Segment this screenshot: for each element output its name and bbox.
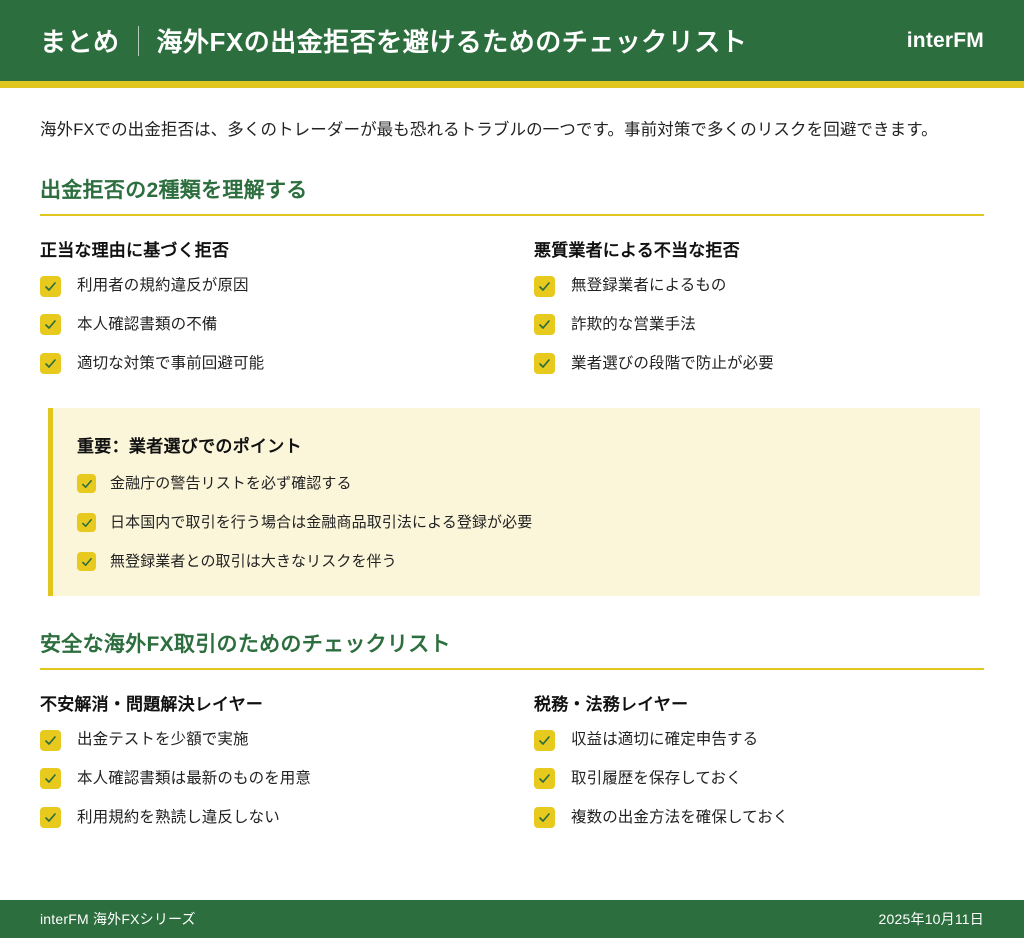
check-list: 無登録業者によるもの 詐欺的な営業手法 業者選びの段 <box>534 275 984 374</box>
column-title: 悪質業者による不当な拒否 <box>534 236 984 261</box>
column-problem-resolution-layer: 不安解消・問題解決レイヤー 出金テストを少額で実施 本人 <box>40 690 490 828</box>
check-label: 利用者の規約違反が原因 <box>77 275 249 297</box>
section-safe-trading-checklist: 安全な海外FX取引のためのチェックリスト 不安解消・問題解決レイヤー 出金テスト… <box>40 628 984 828</box>
column-malicious-refusal: 悪質業者による不当な拒否 無登録業者によるもの 詐欺的な <box>534 236 984 374</box>
column-tax-legal-layer: 税務・法務レイヤー 収益は適切に確定申告する 取引履歴を <box>534 690 984 828</box>
check-label: 出金テストを少額で実施 <box>77 729 249 751</box>
important-callout: 重要：業者選びでのポイント 金融庁の警告リストを必ず確認する 日本国内で取引を行… <box>48 408 980 596</box>
page-title: 海外FXの出金拒否を避けるためのチェックリスト <box>157 22 748 59</box>
content-spacer <box>0 866 1024 900</box>
check-icon <box>40 807 61 828</box>
list-item: 無登録業者によるもの <box>534 275 984 297</box>
check-icon <box>40 276 61 297</box>
page-footer: interFM 海外FXシリーズ 2025年10月11日 <box>0 900 1024 938</box>
list-item: 収益は適切に確定申告する <box>534 729 984 751</box>
section-heading: 安全な海外FX取引のためのチェックリスト <box>40 628 984 658</box>
check-label: 本人確認書類の不備 <box>77 314 217 336</box>
check-label: 収益は適切に確定申告する <box>571 729 758 751</box>
list-item: 利用規約を熟読し違反しない <box>40 807 490 829</box>
check-icon <box>77 513 96 532</box>
check-icon <box>40 768 61 789</box>
check-label: 金融庁の警告リストを必ず確認する <box>110 473 352 494</box>
check-list: 収益は適切に確定申告する 取引履歴を保存しておく 複 <box>534 729 984 828</box>
check-icon <box>534 807 555 828</box>
list-item: 取引履歴を保存しておく <box>534 768 984 790</box>
callout-check-list: 金融庁の警告リストを必ず確認する 日本国内で取引を行う場合は金融商品取引法による… <box>77 473 954 572</box>
check-icon <box>534 314 555 335</box>
footer-date: 2025年10月11日 <box>879 909 984 929</box>
section-columns: 正当な理由に基づく拒否 利用者の規約違反が原因 本人確認 <box>40 236 984 374</box>
check-label: 本人確認書類は最新のものを用意 <box>77 768 311 790</box>
check-label: 複数の出金方法を確保しておく <box>571 807 788 829</box>
page-header: まとめ 海外FXの出金拒否を避けるためのチェックリスト interFM <box>0 0 1024 81</box>
list-item: 業者選びの段階で防止が必要 <box>534 353 984 375</box>
list-item: 適切な対策で事前回避可能 <box>40 353 490 375</box>
check-label: 詐欺的な営業手法 <box>571 314 696 336</box>
intro-paragraph: 海外FXでの出金拒否は、多くのトレーダーが最も恐れるトラブルの一つです。事前対策… <box>40 116 984 144</box>
header-title-group: まとめ 海外FXの出金拒否を避けるためのチェックリスト <box>40 22 747 59</box>
check-label: 適切な対策で事前回避可能 <box>77 353 264 375</box>
check-icon <box>77 474 96 493</box>
brand-logo: interFM <box>907 29 984 53</box>
footer-series-label: interFM 海外FXシリーズ <box>40 909 196 929</box>
section-understand-types: 出金拒否の2種類を理解する 正当な理由に基づく拒否 利用者の規約違反が原因 <box>40 174 984 374</box>
summary-infographic-page: まとめ 海外FXの出金拒否を避けるためのチェックリスト interFM 海外FX… <box>0 0 1024 942</box>
header-eyebrow: まとめ <box>40 22 120 59</box>
column-title: 不安解消・問題解決レイヤー <box>40 690 490 715</box>
check-icon <box>534 353 555 374</box>
check-icon <box>534 768 555 789</box>
column-title: 正当な理由に基づく拒否 <box>40 236 490 261</box>
check-label: 日本国内で取引を行う場合は金融商品取引法による登録が必要 <box>110 512 532 533</box>
section-columns: 不安解消・問題解決レイヤー 出金テストを少額で実施 本人 <box>40 690 984 828</box>
check-list: 出金テストを少額で実施 本人確認書類は最新のものを用意 <box>40 729 490 828</box>
list-item: 本人確認書類は最新のものを用意 <box>40 768 490 790</box>
check-label: 無登録業者との取引は大きなリスクを伴う <box>110 551 397 572</box>
check-list: 利用者の規約違反が原因 本人確認書類の不備 適切な対 <box>40 275 490 374</box>
check-label: 利用規約を熟読し違反しない <box>77 807 280 829</box>
check-icon <box>40 353 61 374</box>
check-icon <box>534 276 555 297</box>
check-label: 無登録業者によるもの <box>571 275 727 297</box>
header-divider <box>138 26 139 56</box>
column-title: 税務・法務レイヤー <box>534 690 984 715</box>
check-icon <box>77 552 96 571</box>
list-item: 日本国内で取引を行う場合は金融商品取引法による登録が必要 <box>77 512 954 533</box>
section-rule <box>40 668 984 670</box>
check-icon <box>40 730 61 751</box>
list-item: 複数の出金方法を確保しておく <box>534 807 984 829</box>
callout-title: 重要：業者選びでのポイント <box>77 432 954 457</box>
list-item: 利用者の規約違反が原因 <box>40 275 490 297</box>
header-accent-bar <box>0 81 1024 88</box>
list-item: 金融庁の警告リストを必ず確認する <box>77 473 954 494</box>
check-label: 業者選びの段階で防止が必要 <box>571 353 774 375</box>
column-legitimate-refusal: 正当な理由に基づく拒否 利用者の規約違反が原因 本人確認 <box>40 236 490 374</box>
list-item: 無登録業者との取引は大きなリスクを伴う <box>77 551 954 572</box>
section-heading: 出金拒否の2種類を理解する <box>40 174 984 204</box>
check-label: 取引履歴を保存しておく <box>571 768 742 790</box>
section-rule <box>40 214 984 216</box>
check-icon <box>534 730 555 751</box>
list-item: 詐欺的な営業手法 <box>534 314 984 336</box>
list-item: 出金テストを少額で実施 <box>40 729 490 751</box>
check-icon <box>40 314 61 335</box>
main-content: 海外FXでの出金拒否は、多くのトレーダーが最も恐れるトラブルの一つです。事前対策… <box>0 88 1024 866</box>
list-item: 本人確認書類の不備 <box>40 314 490 336</box>
